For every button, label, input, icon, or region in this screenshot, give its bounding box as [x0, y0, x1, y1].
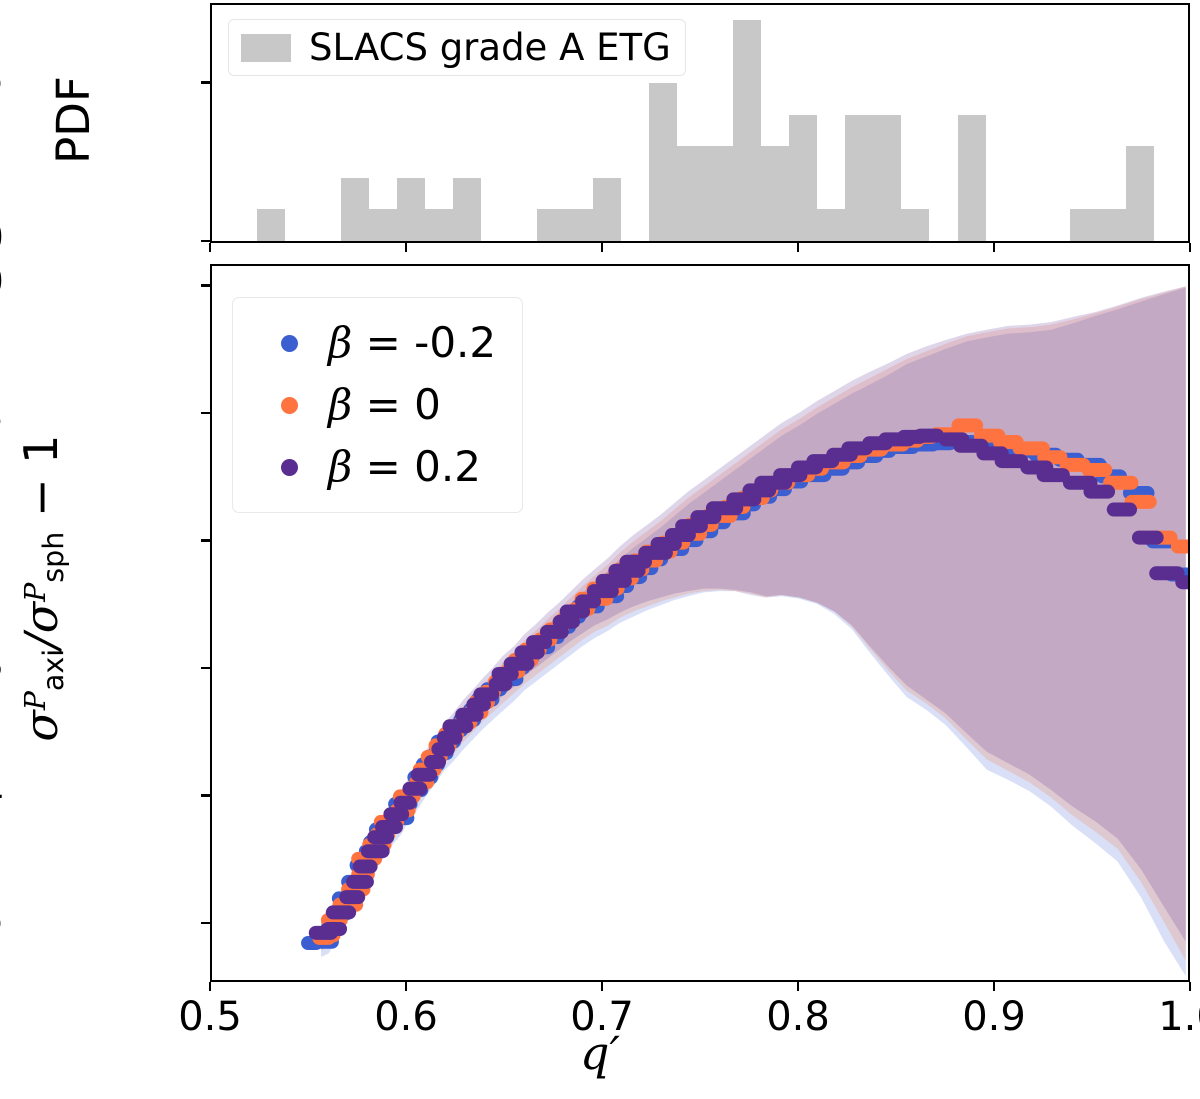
histogram-bar	[649, 83, 677, 241]
histogram-bar	[397, 178, 425, 241]
histogram-x-tick-mark	[601, 243, 603, 252]
histogram-bar	[901, 209, 929, 241]
histogram-bar	[1098, 209, 1126, 241]
main-x-axis-label: q′	[0, 1026, 1200, 1080]
main-y-tick-label: −0.03	[0, 642, 4, 688]
histogram-bar	[705, 146, 733, 241]
histogram-bar	[369, 209, 397, 241]
histogram-bar	[1126, 146, 1154, 241]
histogram-bar	[845, 115, 873, 241]
main-y-axis-label: σPaxi/σPsph − 1	[14, 308, 70, 868]
histogram-y-axis-label: PDF	[13, 55, 133, 185]
main-y-tick-mark	[201, 922, 210, 924]
histogram-bar	[453, 178, 481, 241]
histogram-bar	[677, 146, 705, 241]
histogram-x-tick-mark	[1189, 243, 1191, 252]
main-x-tick-mark	[993, 982, 995, 991]
main-y-tick-label: −0.04	[0, 769, 4, 815]
main-x-tick-mark	[209, 982, 211, 991]
main-y-tick-label: −0.02	[0, 514, 4, 560]
histogram-legend: SLACS grade A ETG	[228, 19, 686, 76]
scatter-legend-entry: β = -0.2	[253, 312, 496, 374]
scatter-legend-marker	[281, 397, 298, 414]
histogram-legend-label: SLACS grade A ETG	[309, 29, 671, 66]
scatter-legend-label: β = 0.2	[328, 446, 481, 488]
main-x-tick-mark	[405, 982, 407, 991]
histogram-x-tick-mark	[797, 243, 799, 252]
histogram-x-tick-mark	[405, 243, 407, 252]
scatter-legend-label: β = -0.2	[328, 322, 496, 364]
histogram-bar	[873, 115, 901, 241]
histogram-bar	[257, 209, 285, 241]
histogram-bar	[817, 209, 845, 241]
main-y-tick-label: −0.01	[0, 387, 4, 433]
main-y-tick-mark	[201, 412, 210, 414]
histogram-bar	[1070, 209, 1098, 241]
main-y-tick-mark	[201, 539, 210, 541]
histogram-bar	[789, 115, 817, 241]
histogram-bar	[761, 146, 789, 241]
main-x-tick-mark	[601, 982, 603, 991]
histogram-y-tick-label: 5	[0, 57, 4, 103]
histogram-y-tick-mark	[201, 240, 210, 242]
histogram-bar	[537, 209, 565, 241]
histogram-bar	[425, 209, 453, 241]
main-y-tick-mark	[201, 794, 210, 796]
main-x-tick-mark	[797, 982, 799, 991]
scatter-legend-entry: β = 0	[253, 374, 496, 436]
main-y-tick-label: −0.05	[0, 897, 4, 943]
histogram-x-tick-mark	[209, 243, 211, 252]
scatter-legend-marker	[281, 459, 298, 476]
histogram-bar	[733, 20, 761, 241]
histogram-bar	[565, 209, 593, 241]
histogram-bar	[958, 115, 986, 241]
histogram-legend-swatch	[241, 34, 291, 62]
histogram-bar	[341, 178, 369, 241]
scatter-legend-marker	[281, 335, 298, 352]
histogram-bar	[593, 178, 621, 241]
main-y-tick-mark	[201, 284, 210, 286]
histogram-x-tick-mark	[993, 243, 995, 252]
scatter-legend: β = -0.2β = 0β = 0.2	[232, 297, 523, 513]
scatter-legend-entry: β = 0.2	[253, 436, 496, 498]
histogram-y-tick-mark	[201, 81, 210, 83]
figure-canvas: PDF 05 SLACS grade A ETG σPaxi/σPsph − 1…	[0, 0, 1200, 1099]
main-y-tick-label: 0.00	[0, 259, 4, 305]
scatter-legend-label: β = 0	[328, 384, 441, 426]
main-y-tick-mark	[201, 667, 210, 669]
histogram-y-tick-label: 0	[0, 215, 4, 261]
main-x-tick-mark	[1189, 982, 1191, 991]
